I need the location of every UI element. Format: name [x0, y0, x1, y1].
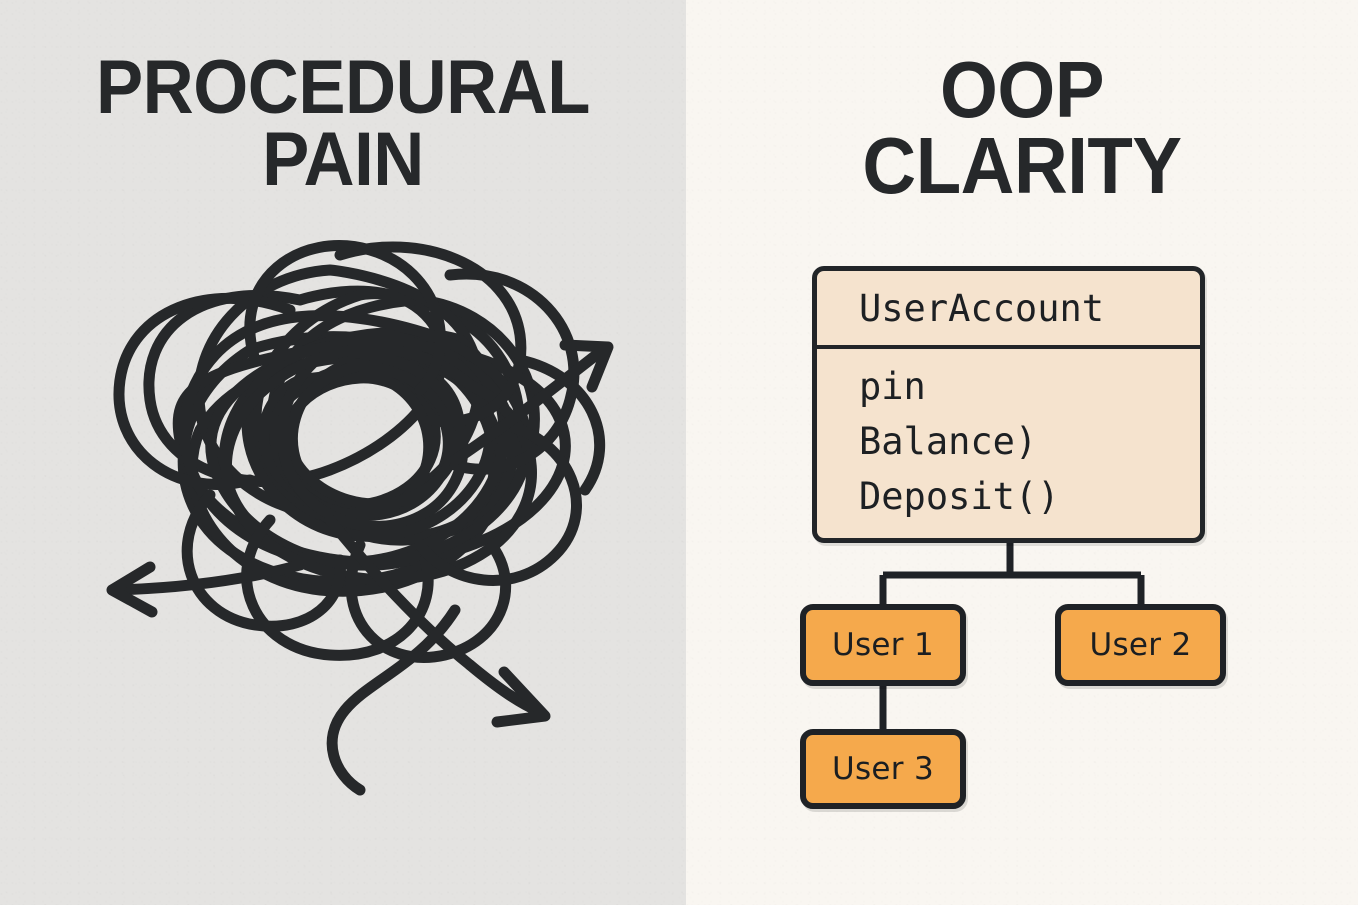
class-name-label: UserAccount	[859, 287, 1104, 330]
uml-class-diagram: UserAccount pin Balance) Deposit() User …	[686, 0, 1358, 905]
instance-node-label: User 3	[832, 751, 934, 787]
instance-node-user-1[interactable]: User 1	[800, 604, 966, 686]
class-box-members: pin Balance) Deposit()	[817, 349, 1200, 524]
oop-clarity-panel: OOP CLARITY	[686, 0, 1358, 905]
class-box-title: UserAccount	[817, 271, 1200, 349]
class-box-useraccount[interactable]: UserAccount pin Balance) Deposit()	[812, 266, 1205, 543]
comparison-graphic: PROCEDURAL PAIN	[0, 0, 1358, 905]
tangled-scribble-illustration	[0, 0, 686, 905]
instance-node-label: User 2	[1089, 627, 1191, 663]
instance-node-user-2[interactable]: User 2	[1055, 604, 1226, 686]
procedural-pain-panel: PROCEDURAL PAIN	[0, 0, 686, 905]
instance-node-label: User 1	[832, 627, 934, 663]
scribble-strokes	[112, 246, 608, 790]
class-member: pin	[859, 359, 1200, 414]
class-member: Balance)	[859, 414, 1200, 469]
class-member: Deposit()	[859, 469, 1200, 524]
instance-node-user-3[interactable]: User 3	[800, 729, 966, 809]
